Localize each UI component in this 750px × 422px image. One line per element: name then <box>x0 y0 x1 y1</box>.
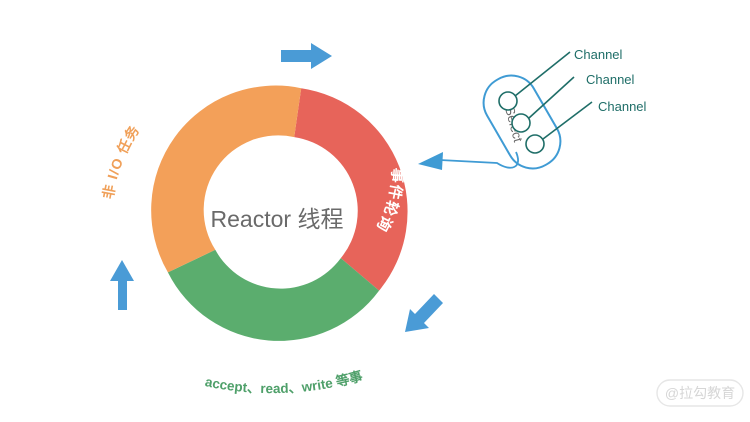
channel-port-1-icon[interactable] <box>499 92 517 110</box>
channel-connector-2 <box>529 77 574 118</box>
channel-label-3: Channel <box>598 99 647 114</box>
channel-label-2: Channel <box>586 72 635 87</box>
channel-connector-1 <box>515 52 570 96</box>
selector-to-ring-connector <box>440 152 518 168</box>
ring-segment-event-dispatch-label: 事件分发 <box>239 342 304 366</box>
ring-segment-event-poll[interactable]: 事件轮询 <box>294 88 407 290</box>
channel-connector-3 <box>543 102 592 139</box>
selector-group[interactable]: Select Channel Channel Channel <box>418 47 647 178</box>
selector-to-ring-arrowhead-icon <box>418 152 443 170</box>
ring-segment-event-dispatch[interactable]: 事件分发 <box>168 250 379 366</box>
arrow-bottom-right-icon <box>405 294 443 332</box>
arrow-top-icon <box>281 43 332 69</box>
reactor-center-label: Reactor 线程 <box>211 206 344 232</box>
diagram-canvas: 事件轮询 事件分发 任务处理 Reactor 线程 非 I/O 任务 <box>0 0 750 422</box>
outer-label-non-io-task: 非 I/O 任务 <box>100 122 143 200</box>
channel-port-3-icon[interactable] <box>526 135 544 153</box>
channel-label-1: Channel <box>574 47 623 62</box>
watermark-label: @拉勾教育 <box>665 385 735 401</box>
channel-port-2-icon[interactable] <box>512 114 530 132</box>
arrow-left-icon <box>110 260 134 310</box>
watermark: @拉勾教育 <box>657 380 743 406</box>
